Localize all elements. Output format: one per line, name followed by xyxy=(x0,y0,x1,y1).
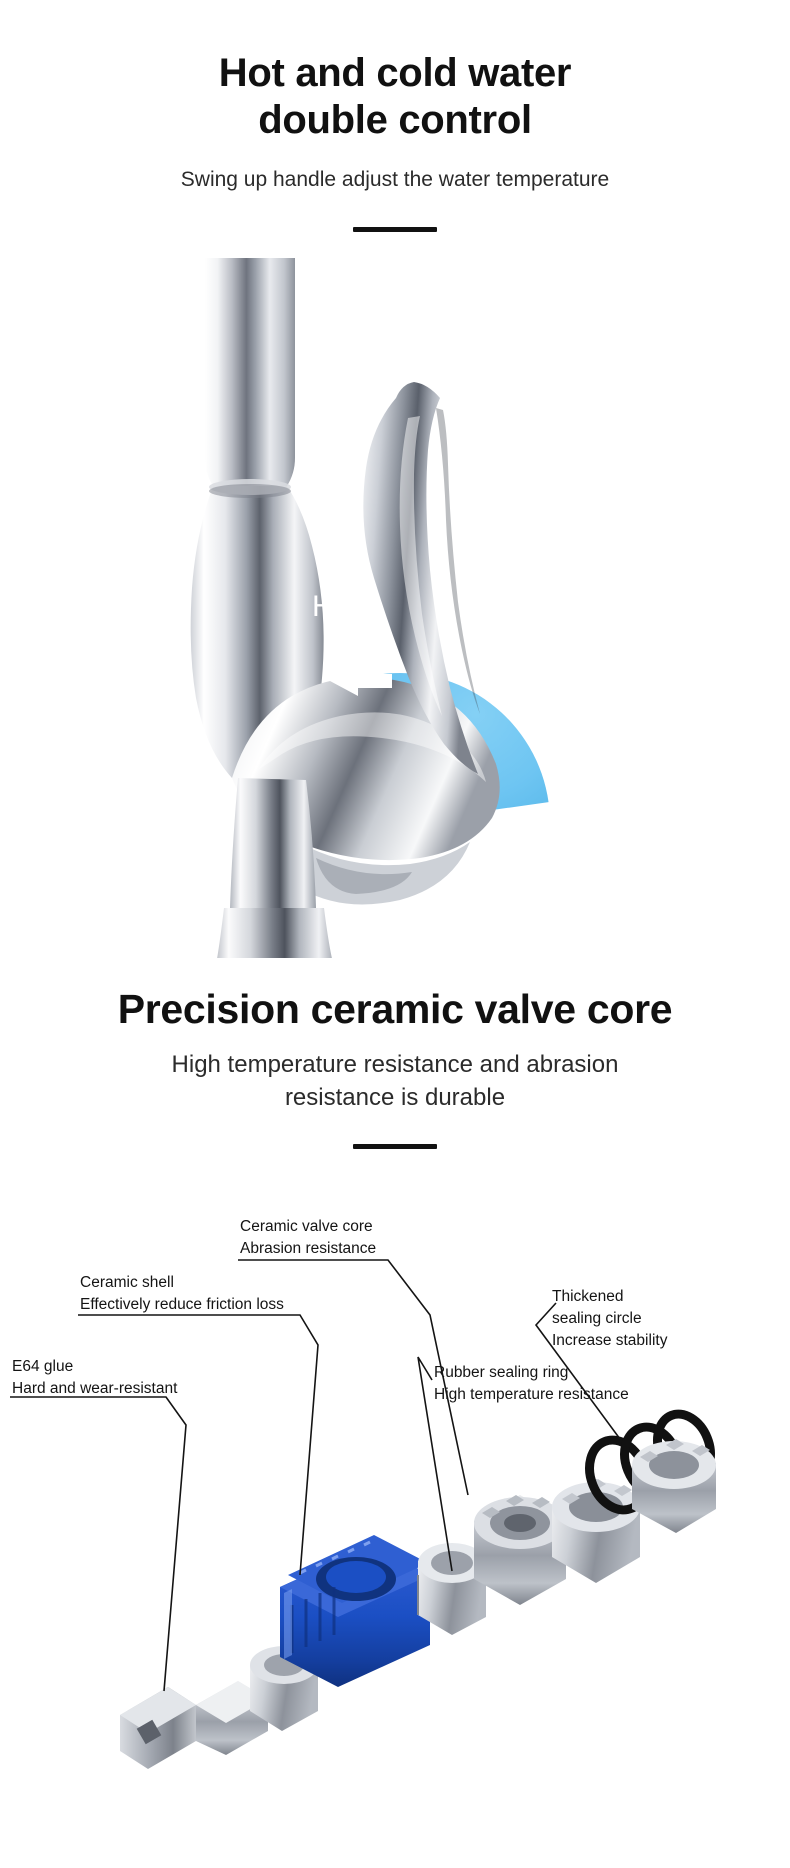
callout-ceramic-shell: Ceramic shell Effectively reduce frictio… xyxy=(80,1274,284,1313)
callout-title-rubber-sealing-ring: Rubber sealing ring xyxy=(434,1364,568,1381)
section-2-divider xyxy=(353,1144,437,1149)
faucet-temperature-illustration: Hot Cold xyxy=(0,258,790,958)
callout-detail-ceramic-shell: Effectively reduce friction loss xyxy=(80,1296,284,1313)
callout-detail2-thickened-sealing-circle: Increase stability xyxy=(552,1332,668,1349)
callout-detail-e64-glue: Hard and wear-resistant xyxy=(12,1380,178,1397)
section-1-divider xyxy=(353,227,437,232)
callout-rubber-sealing-ring: Rubber sealing ring High temperature res… xyxy=(434,1364,629,1403)
headline-line-2: double control xyxy=(258,98,532,142)
arrow-right-icon xyxy=(500,666,562,696)
section-hot-cold-header: Hot and cold water double control Swing … xyxy=(0,50,790,232)
callout-detail-rubber-sealing-ring: High temperature resistance xyxy=(434,1386,629,1403)
callout-e64-glue: E64 glue Hard and wear-resistant xyxy=(12,1358,178,1397)
callout-detail-ceramic-valve-core: Abrasion resistance xyxy=(240,1240,376,1257)
cold-indicator: Cold xyxy=(468,590,562,696)
valve-cartridge-exploded-illustration: Ceramic valve core Abrasion resistance C… xyxy=(0,1175,790,1865)
section-1-headline: Hot and cold water double control xyxy=(0,50,790,144)
headline-line-1: Hot and cold water xyxy=(219,51,571,95)
part-ceramic-shell-blue xyxy=(280,1535,430,1687)
hot-indicator: Hot xyxy=(312,590,392,696)
subheadline-line-2: resistance is durable xyxy=(285,1084,505,1111)
section-ceramic-valve-header: Precision ceramic valve core High temper… xyxy=(0,985,790,1149)
callout-title-thickened-sealing-circle: Thickened xyxy=(552,1288,624,1305)
callout-ceramic-valve-core: Ceramic valve core Abrasion resistance xyxy=(240,1218,376,1257)
section-2-headline: Precision ceramic valve core xyxy=(0,985,790,1033)
hot-label: Hot xyxy=(312,590,359,623)
part-e64-glue-stem xyxy=(120,1681,268,1769)
section-2-subheadline: High temperature resistance and abrasion… xyxy=(0,1049,790,1114)
callout-title-ceramic-shell: Ceramic shell xyxy=(80,1274,174,1291)
callout-title-e64-glue: E64 glue xyxy=(12,1358,73,1375)
part-retainer-cap xyxy=(632,1439,716,1533)
callout-detail-thickened-sealing-circle: sealing circle xyxy=(552,1310,642,1327)
callout-thickened-sealing-circle: Thickened sealing circle Increase stabil… xyxy=(552,1288,668,1349)
callout-title-ceramic-valve-core: Ceramic valve core xyxy=(240,1218,373,1235)
product-feature-page: Hot and cold water double control Swing … xyxy=(0,0,790,1868)
faucet-spout xyxy=(205,258,295,486)
section-1-subheadline: Swing up handle adjust the water tempera… xyxy=(0,166,790,194)
subheadline-line-1: High temperature resistance and abrasion xyxy=(172,1051,619,1078)
cold-label: Cold xyxy=(468,590,530,623)
